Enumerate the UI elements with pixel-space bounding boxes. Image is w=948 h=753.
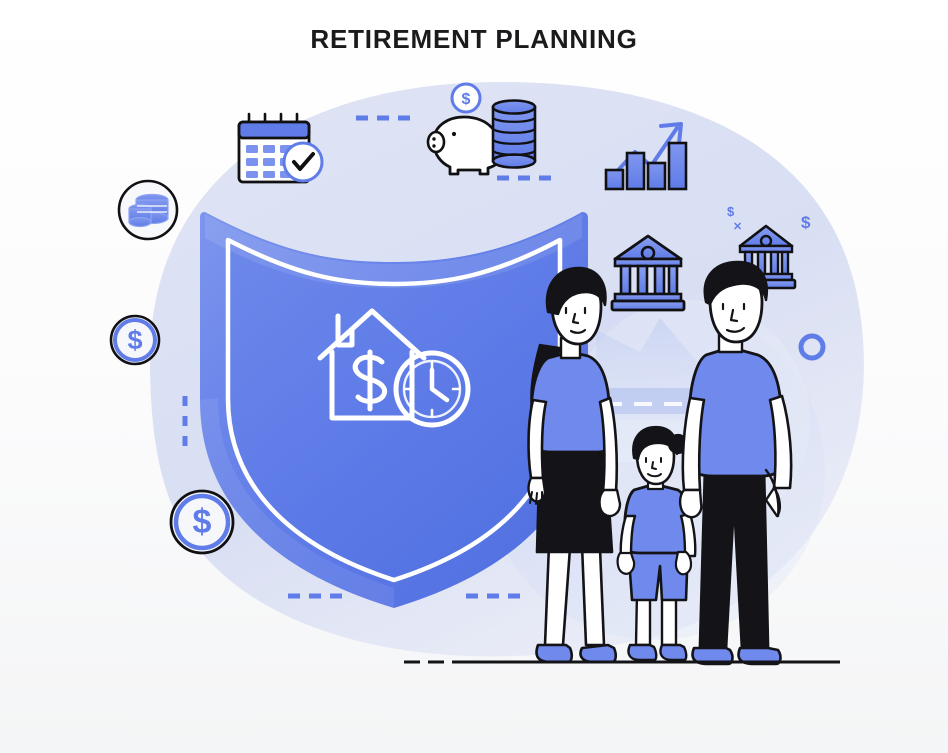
dollar-coin-above-piggy: $	[452, 84, 480, 112]
page-title: RETIREMENT PLANNING	[0, 24, 948, 55]
svg-text:$: $	[462, 91, 471, 108]
svg-text:✕: ✕	[733, 221, 742, 233]
shoe	[537, 645, 572, 662]
coin-stack-tall-icon	[493, 101, 535, 168]
calendar-check-icon	[239, 114, 322, 182]
illustration-canvas: RETIREMENT PLANNING	[0, 0, 948, 753]
dollar-sign-right: $	[801, 213, 811, 232]
hand	[618, 553, 635, 574]
shoe	[581, 645, 616, 662]
dollar-coin-icon-lower: $	[171, 491, 233, 553]
hand	[676, 552, 691, 574]
coins-stack-circle-icon	[119, 181, 177, 239]
hand	[680, 490, 701, 517]
illustration-svg: $	[0, 0, 948, 753]
shoe	[660, 645, 686, 660]
svg-text:$: $	[193, 503, 212, 541]
hand	[600, 490, 621, 516]
svg-text:$: $	[127, 325, 142, 355]
shoe	[628, 645, 656, 660]
check-badge-icon	[284, 143, 322, 181]
dollar-coin-icon-upper: $	[111, 316, 159, 364]
clock-icon	[396, 353, 468, 425]
svg-text:$: $	[727, 204, 735, 219]
